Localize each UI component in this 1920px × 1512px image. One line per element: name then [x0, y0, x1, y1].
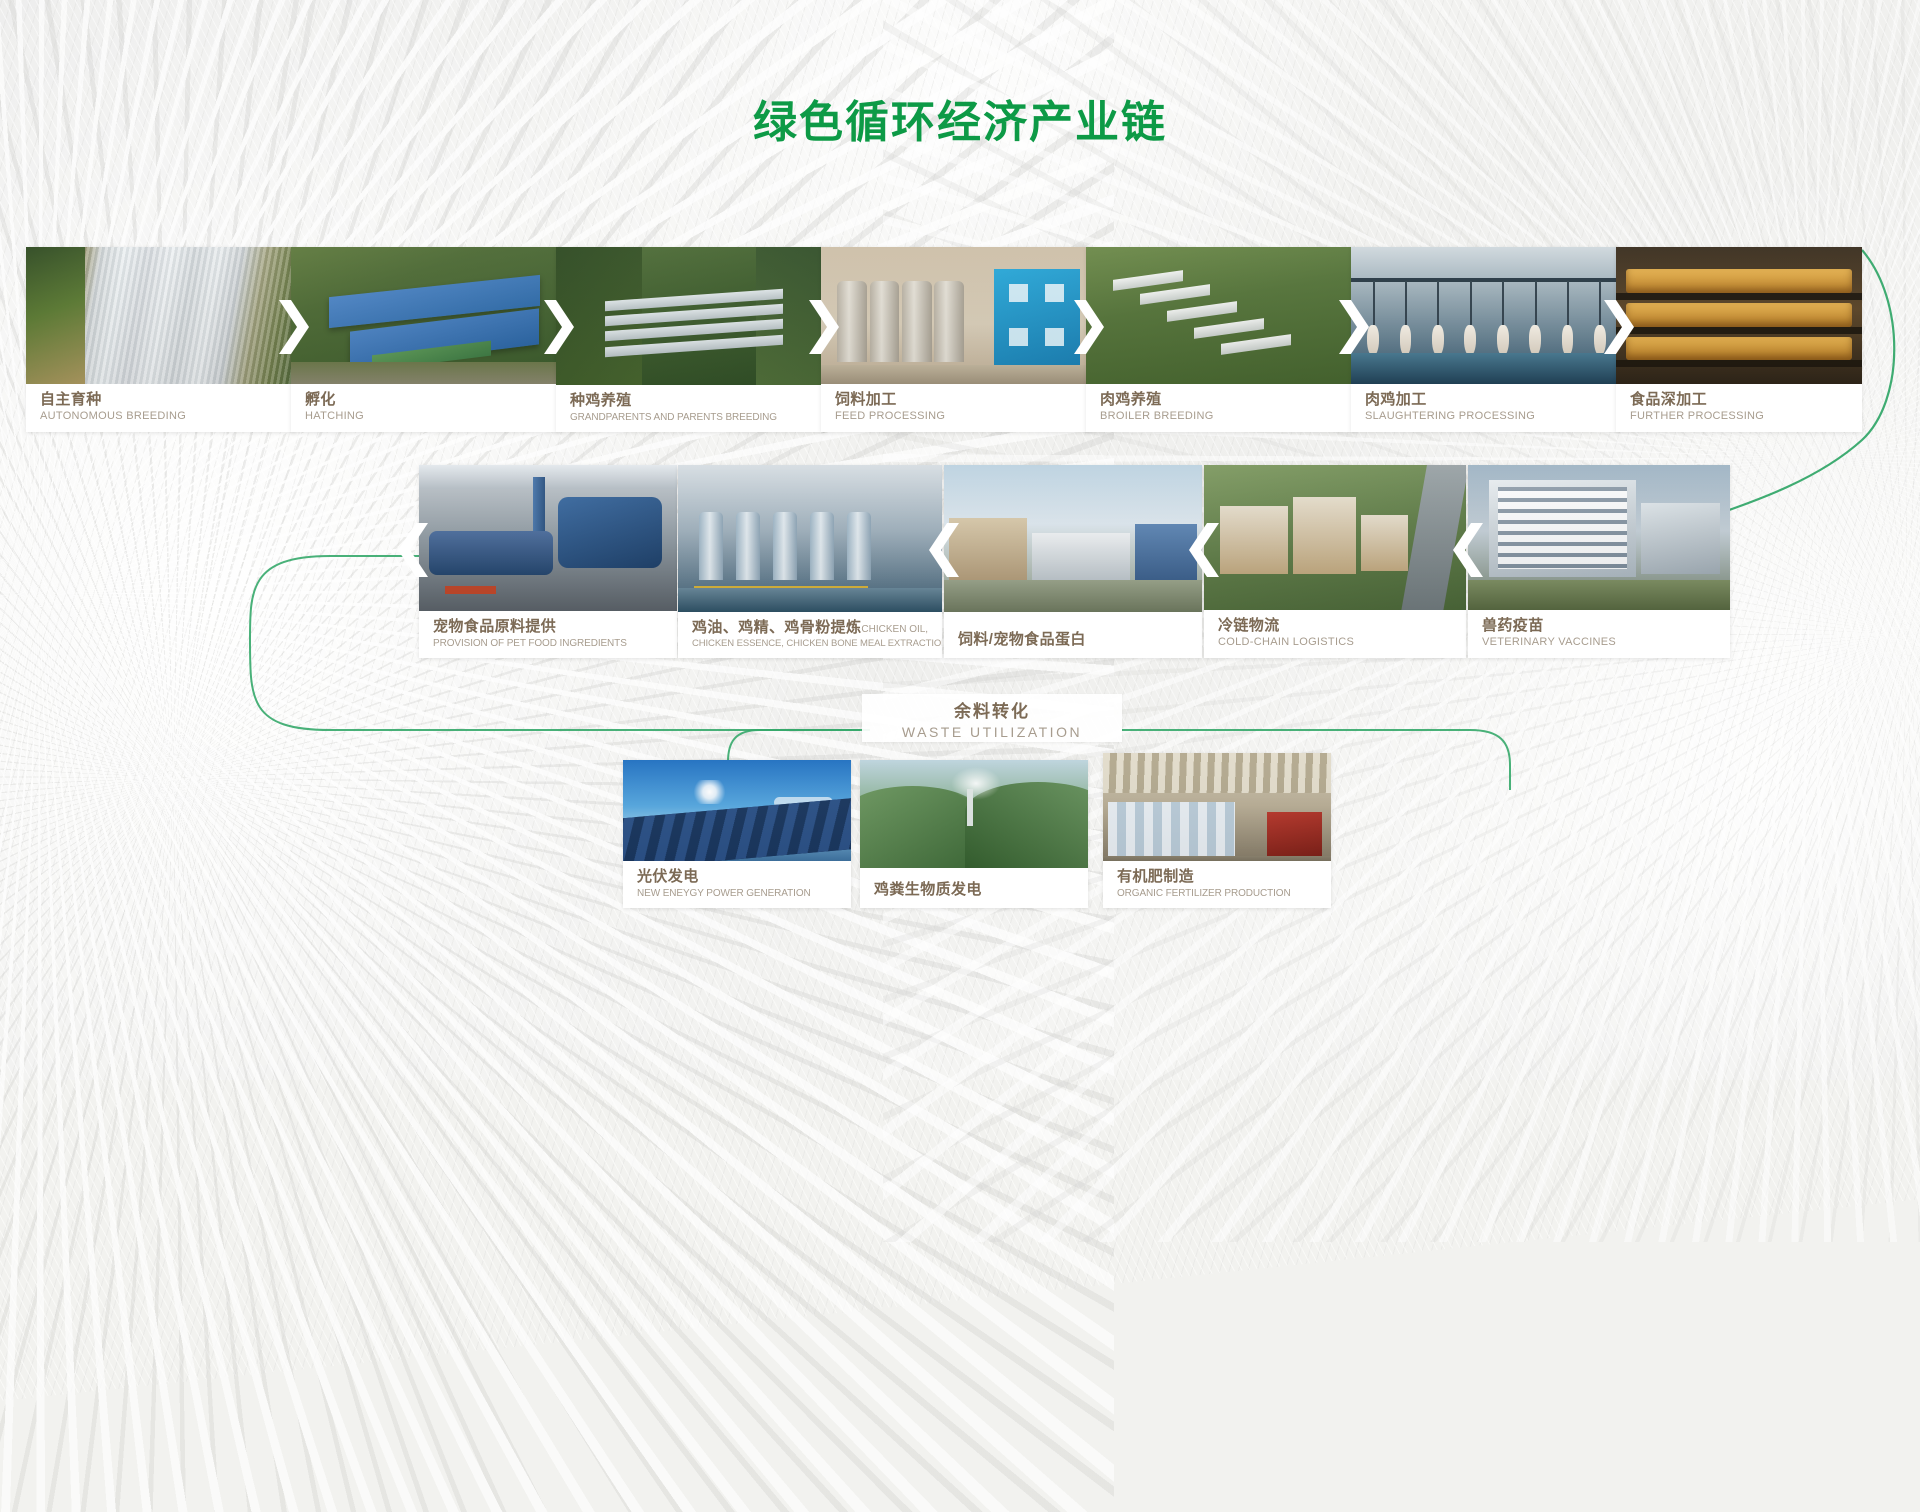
card-caption: 兽药疫苗 VETERINARY VACCINES: [1468, 610, 1730, 658]
byproduct-card-cold-chain-logistics[interactable]: 冷链物流 COLD-CHAIN LOGISTICS: [1204, 465, 1466, 658]
hub-title-cn: 余料转化: [954, 697, 1030, 722]
card-photo: [1103, 753, 1331, 870]
card-photo: [821, 247, 1091, 387]
card-caption: 肉鸡加工 SLAUGHTERING PROCESSING: [1351, 384, 1621, 432]
card-photo: [1204, 465, 1466, 612]
chain-card-further-processing[interactable]: 食品深加工 FURTHER PROCESSING: [1616, 247, 1862, 432]
card-title-en: SLAUGHTERING PROCESSING: [1365, 410, 1609, 424]
card-caption: 饲料加工 FEED PROCESSING: [821, 384, 1091, 432]
card-caption: 孵化 HATCHING: [291, 384, 561, 432]
card-title-en: ORGANIC FERTILIZER PRODUCTION: [1117, 888, 1319, 901]
byproduct-card-feed-protein[interactable]: 饲料/宠物食品蛋白: [944, 465, 1202, 658]
card-title-cn: 鸡粪生物质发电: [874, 875, 1076, 898]
chain-card-hatching[interactable]: 孵化 HATCHING: [291, 247, 561, 432]
card-title-cn: 食品深加工: [1630, 391, 1850, 408]
card-caption: 食品深加工 FURTHER PROCESSING: [1616, 384, 1862, 432]
hub-title-en: WASTE UTILIZATION: [902, 724, 1082, 740]
card-caption: 有机肥制造 ORGANIC FERTILIZER PRODUCTION: [1103, 861, 1331, 908]
card-title-cn: 种鸡养殖: [570, 392, 814, 409]
card-title-en: FURTHER PROCESSING: [1630, 410, 1850, 424]
chain-card-slaughtering-processing[interactable]: 肉鸡加工 SLAUGHTERING PROCESSING: [1351, 247, 1621, 432]
chain-card-broiler-breeding[interactable]: 肉鸡养殖 BROILER BREEDING: [1086, 247, 1356, 432]
card-title-cn: 饲料加工: [835, 391, 1079, 408]
card-photo: [26, 247, 296, 387]
card-caption: 鸡粪生物质发电: [860, 868, 1088, 908]
chain-card-grandparents-breeding[interactable]: 种鸡养殖 GRANDPARENTS AND PARENTS BREEDING: [556, 247, 826, 432]
card-caption: 冷链物流 COLD-CHAIN LOGISTICS: [1204, 610, 1466, 658]
card-title-cn: 兽药疫苗: [1482, 617, 1718, 634]
card-title-en: PROVISION OF PET FOOD INGREDIENTS: [433, 638, 665, 651]
card-photo: [944, 465, 1202, 612]
waste-utilization-banner[interactable]: 余料转化 WASTE UTILIZATION: [862, 694, 1122, 742]
card-photo: [1351, 247, 1621, 387]
card-title-cn: 宠物食品原料提供: [433, 618, 665, 635]
byproduct-card-chicken-oil-extraction[interactable]: 鸡油、鸡精、鸡骨粉提炼CHICKEN OIL, CHICKEN ESSENCE,…: [678, 465, 942, 658]
card-photo: [1468, 465, 1730, 612]
card-caption: 宠物食品原料提供 PROVISION OF PET FOOD INGREDIEN…: [419, 611, 677, 658]
card-title-cn: 有机肥制造: [1117, 868, 1319, 885]
card-caption: 种鸡养殖 GRANDPARENTS AND PARENTS BREEDING: [556, 385, 826, 432]
card-title-inline-en: CHICKEN OIL,: [861, 624, 928, 635]
card-caption: 饲料/宠物食品蛋白: [944, 614, 1202, 658]
card-title-en: AUTONOMOUS BREEDING: [40, 410, 284, 424]
card-title-cn: 冷链物流: [1218, 617, 1454, 634]
card-photo: [1616, 247, 1862, 387]
byproduct-card-veterinary-vaccines[interactable]: 兽药疫苗 VETERINARY VACCINES: [1468, 465, 1730, 658]
card-photo: [623, 760, 851, 870]
chain-card-autonomous-breeding[interactable]: 自主育种 AUTONOMOUS BREEDING: [26, 247, 296, 432]
waste-card-photovoltaic-power[interactable]: 光伏发电 NEW ENEYGY POWER GENERATION: [623, 760, 851, 908]
card-title-cn: 自主育种: [40, 391, 284, 408]
card-caption: 肉鸡养殖 BROILER BREEDING: [1086, 384, 1356, 432]
card-title-en: GRANDPARENTS AND PARENTS BREEDING: [570, 412, 814, 425]
card-title-en: BROILER BREEDING: [1100, 410, 1344, 424]
card-title-en: COLD-CHAIN LOGISTICS: [1218, 636, 1454, 650]
waste-card-biomass-power[interactable]: 鸡粪生物质发电: [860, 760, 1088, 908]
card-title-cn: 肉鸡加工: [1365, 391, 1609, 408]
card-photo: [678, 465, 942, 612]
card-title-en: HATCHING: [305, 410, 549, 424]
card-title-en: CHICKEN ESSENCE, CHICKEN BONE MEAL EXTRA…: [692, 638, 930, 650]
card-caption: 自主育种 AUTONOMOUS BREEDING: [26, 384, 296, 432]
page-title: 绿色循环经济产业链: [0, 86, 1920, 150]
card-caption: 鸡油、鸡精、鸡骨粉提炼CHICKEN OIL, CHICKEN ESSENCE,…: [678, 612, 942, 658]
card-title-cn: 光伏发电: [637, 868, 839, 885]
card-photo: [556, 247, 826, 387]
card-title-en: FEED PROCESSING: [835, 410, 1079, 424]
card-title-cn: 鸡油、鸡精、鸡骨粉提炼CHICKEN OIL,: [692, 619, 930, 636]
card-photo: [419, 465, 677, 612]
card-title-en: VETERINARY VACCINES: [1482, 636, 1718, 650]
card-title-cn: 饲料/宠物食品蛋白: [958, 621, 1190, 648]
waste-card-organic-fertilizer[interactable]: 有机肥制造 ORGANIC FERTILIZER PRODUCTION: [1103, 753, 1331, 908]
byproduct-card-pet-food-ingredients[interactable]: 宠物食品原料提供 PROVISION OF PET FOOD INGREDIEN…: [419, 465, 677, 658]
card-title-cn: 孵化: [305, 391, 549, 408]
card-photo: [291, 247, 561, 387]
card-photo: [1086, 247, 1356, 387]
card-title-cn: 肉鸡养殖: [1100, 391, 1344, 408]
chain-card-feed-processing[interactable]: 饲料加工 FEED PROCESSING: [821, 247, 1091, 432]
card-caption: 光伏发电 NEW ENEYGY POWER GENERATION: [623, 861, 851, 908]
card-photo: [860, 760, 1088, 870]
card-title-en: NEW ENEYGY POWER GENERATION: [637, 888, 839, 901]
